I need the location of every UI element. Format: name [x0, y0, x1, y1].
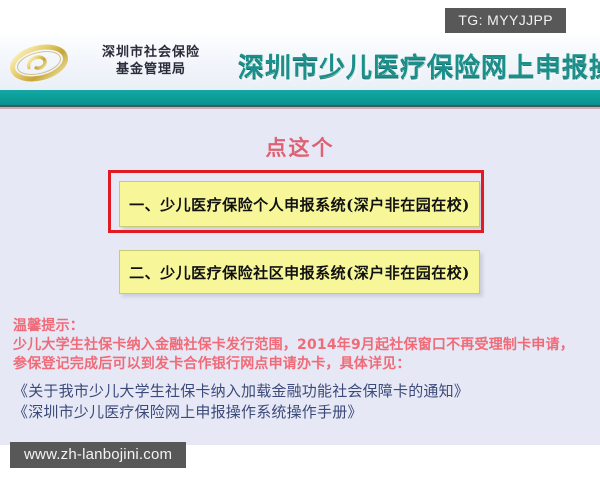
- link-notice-document[interactable]: 《关于我市少儿大学生社保卡纳入加载金融功能社会保障卡的通知》: [13, 381, 469, 402]
- personal-declaration-button[interactable]: 一、少儿医疗保险个人申报系统(深户非在园在校): [119, 181, 480, 227]
- tg-watermark-badge: TG: MYYJJPP: [445, 8, 566, 33]
- system-title: 深圳市少儿医疗保险网上申报操作系统: [238, 47, 600, 84]
- header-divider-bar: [0, 90, 600, 105]
- tips-line-2: 少儿大学生社保卡纳入金融社保卡发行范围，2014年9月起社保窗口不再受理制卡申请…: [13, 336, 574, 355]
- community-declaration-button[interactable]: 二、少儿医疗保险社区申报系统(深户非在园在校): [119, 250, 480, 294]
- main-content: 点这个 一、少儿医疗保险个人申报系统(深户非在园在校) 二、少儿医疗保险社区申报…: [0, 109, 600, 445]
- page-root: TG: MYYJJPP: [0, 0, 600, 480]
- link-operation-manual[interactable]: 《深圳市少儿医疗保险网上申报操作系统操作手册》: [13, 402, 469, 423]
- warm-tips-block: 温馨提示： 少儿大学生社保卡纳入金融社保卡发行范围，2014年9月起社保窗口不再…: [13, 317, 574, 374]
- document-links: 《关于我市少儿大学生社保卡纳入加载金融功能社会保障卡的通知》 《深圳市少儿医疗保…: [13, 381, 469, 423]
- agency-name: 深圳市社会保险 基金管理局: [76, 44, 226, 78]
- click-here-annotation: 点这个: [0, 132, 600, 162]
- site-header: 深圳市社会保险 基金管理局 深圳市少儿医疗保险网上申报操作系统: [0, 35, 600, 90]
- agency-logo-icon: [8, 43, 70, 83]
- tips-line-3: 参保登记完成后可以到发卡合作银行网点申请办卡，具体详见：: [13, 355, 574, 374]
- agency-name-line2: 基金管理局: [76, 61, 226, 78]
- site-watermark: www.zh-lanbojini.com: [10, 442, 186, 468]
- agency-name-line1: 深圳市社会保险: [102, 45, 200, 60]
- tips-line-1: 温馨提示：: [13, 317, 574, 336]
